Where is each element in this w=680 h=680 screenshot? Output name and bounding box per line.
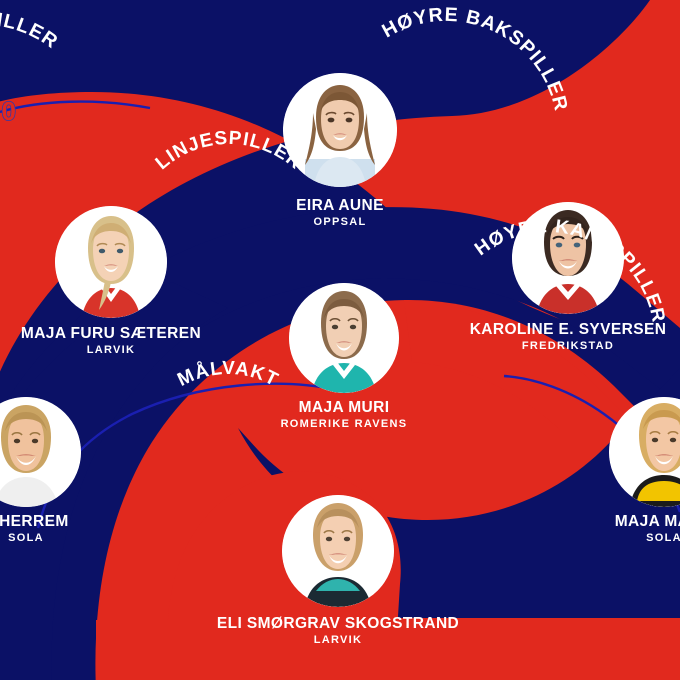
red-strip-bottom — [96, 620, 680, 680]
player-photo-left-back — [55, 206, 167, 318]
portrait-eli-smorgrav-skogstrand — [282, 495, 394, 607]
player-photo-centre-back — [283, 73, 397, 187]
portrait-karoline-e-syversen — [512, 202, 624, 314]
player-photo-goalkeeper — [282, 495, 394, 607]
lineup-graphic: 00 MIDTRE BAKSPILLER — [0, 0, 680, 680]
player-photo-pivot — [289, 283, 399, 393]
portrait-maja-furu-saeteren — [55, 206, 167, 318]
corner-number: 00 — [0, 96, 17, 127]
portrait-maja-muri — [289, 283, 399, 393]
portrait-eira-aune — [283, 73, 397, 187]
player-photo-right-back — [512, 202, 624, 314]
